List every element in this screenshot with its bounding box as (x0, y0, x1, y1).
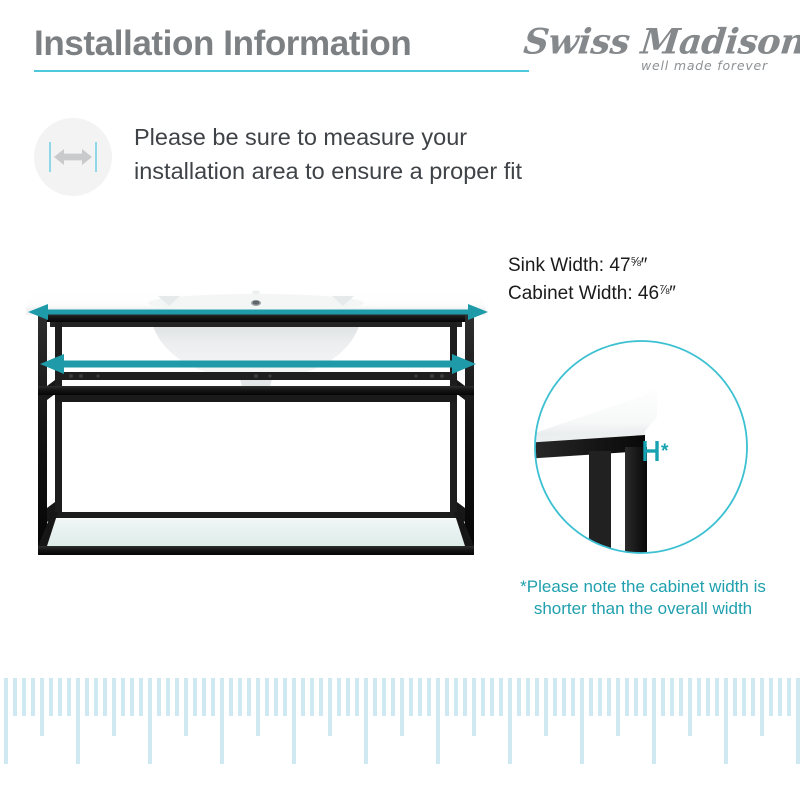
sink-width-fraction: ⅝ (631, 255, 641, 269)
sink-width-label: Sink Width: 47⅝″ (508, 250, 788, 278)
double-arrow-horizontal-icon (34, 118, 112, 196)
page-header: Installation Information Swiss Madison® … (34, 22, 772, 84)
cabinet-inset-marker: * (645, 441, 669, 462)
asterisk-marker-icon: * (661, 441, 669, 462)
detail-contents (533, 383, 657, 555)
cabinet-width-whole: 46 (638, 283, 659, 304)
brand-logo: Swiss Madison® well made forever (524, 20, 772, 80)
vanity-illustration (18, 268, 494, 573)
page-title: Installation Information (34, 22, 411, 66)
detail-callout-circle: * (533, 339, 749, 555)
width-dimension-labels: Sink Width: 47⅝″ Cabinet Width: 46⅞″ (508, 250, 788, 306)
cabinet-width-footnote: *Please note the cabinet width is shorte… (498, 576, 788, 620)
sink-width-unit: ″ (641, 255, 648, 276)
installation-information-page: Installation Information Swiss Madison® … (0, 0, 800, 800)
measure-icon-badge (34, 118, 112, 196)
measure-reminder: Please be sure to measure your installat… (34, 118, 574, 202)
sink-basin-bowl (150, 315, 362, 398)
measure-reminder-text: Please be sure to measure your installat… (134, 120, 574, 188)
footnote-line-1: *Please note the cabinet width is (520, 577, 766, 596)
brand-logo-wordmark: Swiss Madison® (522, 20, 774, 61)
decorative-ruler (0, 678, 800, 788)
footnote-line-2: shorter than the overall width (534, 599, 752, 618)
measure-reminder-line-2: installation area to ensure a proper fit (134, 158, 522, 184)
sink-width-whole: 47 (609, 255, 630, 276)
cabinet-width-label: Cabinet Width: 46⅞″ (508, 278, 788, 306)
cabinet-width-fraction: ⅞ (659, 283, 669, 297)
cabinet-width-caption: Cabinet Width: (508, 283, 633, 304)
ruler-ticks (0, 678, 800, 788)
brand-logo-name: Swiss Madison (522, 22, 800, 63)
title-underline-rule (34, 70, 529, 72)
sink-width-caption: Sink Width: (508, 255, 604, 276)
measure-reminder-line-1: Please be sure to measure your (134, 124, 467, 150)
cabinet-width-unit: ″ (669, 283, 676, 304)
